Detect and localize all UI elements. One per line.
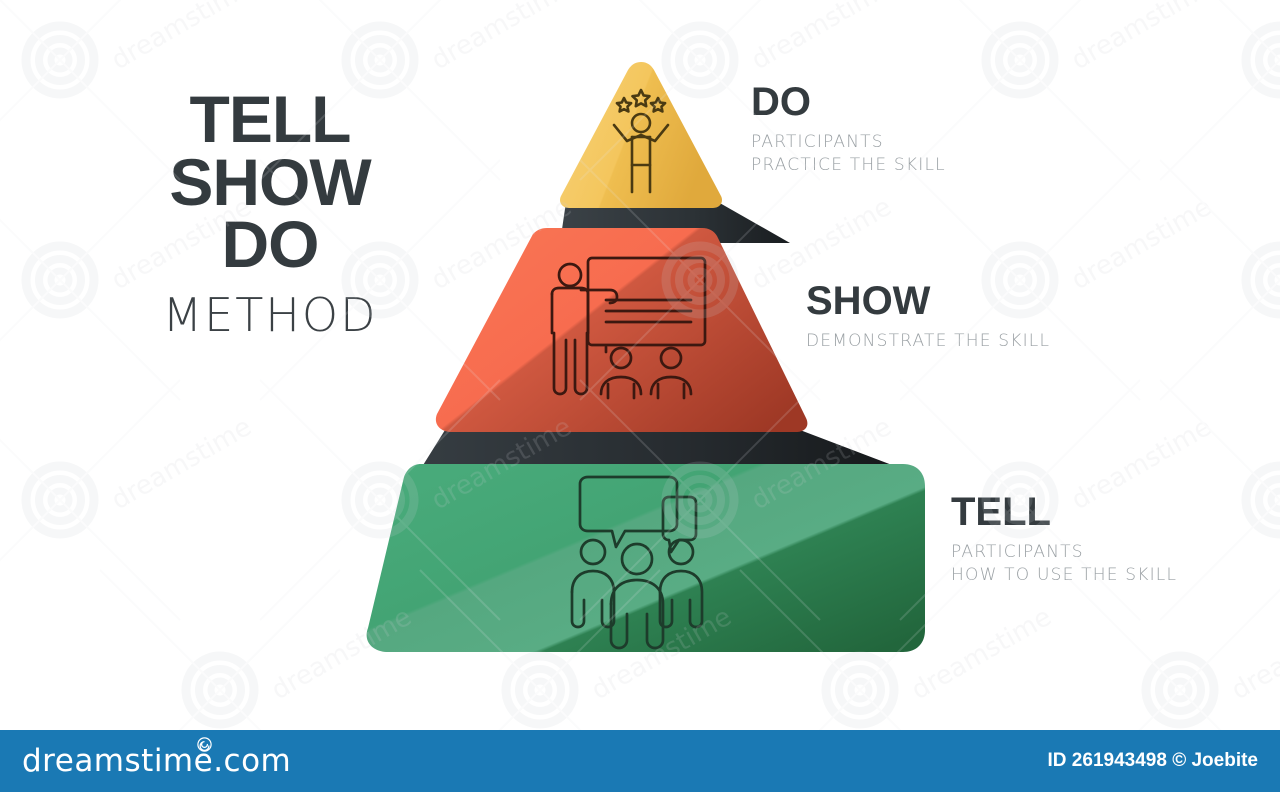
level-subtext-tell-line1: PARTICIPANTS — [951, 541, 1177, 564]
title-subtitle-method: METHOD — [120, 288, 420, 342]
level-subtext-do: PARTICIPANTS PRACTICE THE SKILL — [751, 131, 946, 177]
pyramid-level-do[interactable] — [560, 62, 722, 208]
page-title: TELL SHOW DO METHOD — [120, 88, 420, 342]
level-subtext-do-line2: PRACTICE THE SKILL — [751, 154, 946, 177]
title-line-show: SHOW — [120, 151, 420, 214]
registered-spiral-icon — [197, 737, 212, 756]
dreamstime-logo-text: dreamstime.com — [22, 743, 291, 779]
footer-image-credit: ID 261943498 © Joebite — [1048, 750, 1258, 772]
level-label-tell: TELL PARTICIPANTS HOW TO USE THE SKILL — [951, 492, 1177, 587]
level-heading-show: SHOW — [806, 281, 1050, 321]
title-line-do: DO — [120, 213, 420, 276]
level-subtext-show: DEMONSTRATE THE SKILL — [806, 330, 1050, 353]
level-heading-do: DO — [751, 82, 946, 122]
pyramid-level-tell[interactable] — [367, 464, 925, 652]
level-subtext-do-line1: PARTICIPANTS — [751, 131, 946, 154]
pyramid-level-show[interactable] — [436, 228, 808, 432]
level-label-show: SHOW DEMONSTRATE THE SKILL — [806, 281, 1050, 353]
level-subtext-tell: PARTICIPANTS HOW TO USE THE SKILL — [951, 541, 1177, 587]
level-subtext-tell-line2: HOW TO USE THE SKILL — [951, 564, 1177, 587]
stock-footer-bar: dreamstime.com ID 261943498 © Joebite — [0, 730, 1280, 792]
level-label-do: DO PARTICIPANTS PRACTICE THE SKILL — [751, 82, 946, 177]
level-subtext-show-line1: DEMONSTRATE THE SKILL — [806, 330, 1050, 353]
title-line-tell: TELL — [120, 88, 420, 151]
level-heading-tell: TELL — [951, 492, 1177, 532]
dreamstime-logo[interactable]: dreamstime.com — [22, 743, 291, 779]
